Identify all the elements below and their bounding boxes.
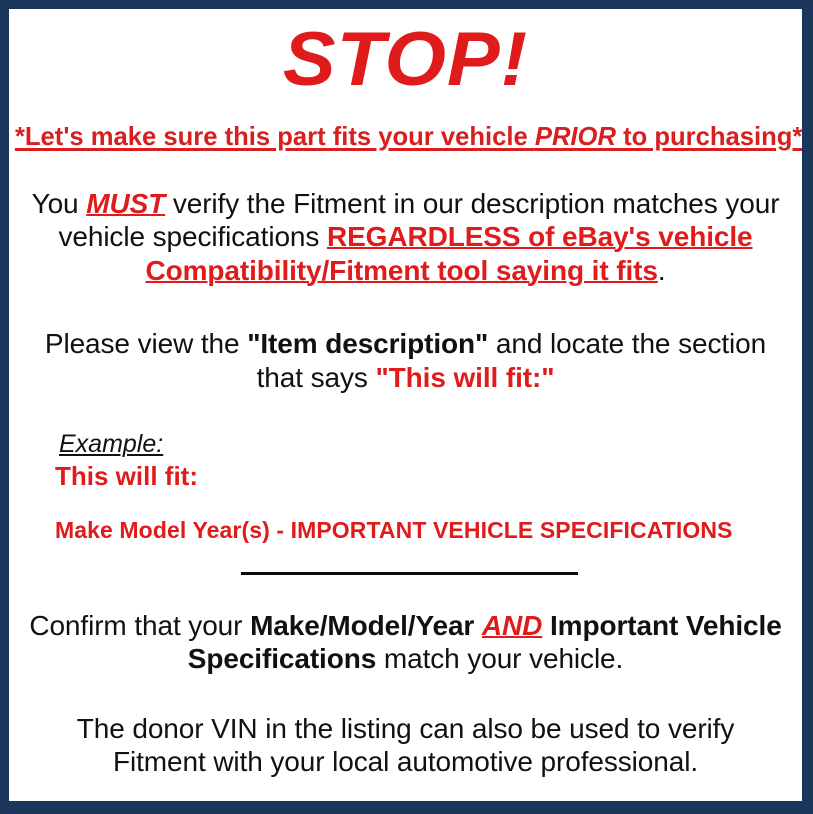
view-emphasis-item-description: "Item description" (247, 328, 488, 359)
divider-wrapper (9, 544, 802, 575)
example-label-row: Example: (55, 430, 802, 459)
verify-text-3: . (658, 255, 666, 286)
notice-inner-panel: STOP! *Let's make sure this part fits yo… (9, 9, 802, 801)
view-emphasis-this-will-fit: "This will fit:" (375, 362, 554, 393)
thank-you-message: Thank you for confirming Fitment! (9, 779, 802, 801)
confirm-space-2 (542, 610, 550, 641)
confirm-emphasis-make-model-year: Make/Model/Year (250, 610, 474, 641)
paragraph-view-item-description: Please view the "Item description" and l… (9, 287, 802, 394)
paragraph-confirm-match: Confirm that your Make/Model/Year AND Im… (9, 575, 802, 676)
example-label: Example: (59, 430, 163, 459)
confirm-text-2: match your vehicle. (376, 643, 623, 674)
confirm-text-1: Confirm that your (29, 610, 250, 641)
fitment-notice-card: STOP! *Let's make sure this part fits yo… (0, 0, 813, 814)
paragraph-donor-vin: The donor VIN in the listing can also be… (9, 676, 802, 779)
subtitle-suffix: to purchasing* (616, 121, 802, 151)
horizontal-divider (241, 572, 578, 575)
example-vehicle-spec-line: Make Model Year(s) - IMPORTANT VEHICLE S… (55, 517, 802, 544)
paragraph-verify-fitment: You MUST verify the Fitment in our descr… (9, 151, 802, 288)
verify-text-1: You (32, 188, 87, 219)
example-this-will-fit-label: This will fit: (55, 461, 802, 492)
confirm-space-1 (474, 610, 482, 641)
page-title: STOP! (9, 9, 802, 98)
view-text-1: Please view the (45, 328, 247, 359)
example-block: Example: This will fit: Make Model Year(… (9, 395, 802, 544)
subtitle-line: *Let's make sure this part fits your veh… (15, 98, 796, 151)
confirm-emphasis-and: AND (482, 610, 542, 641)
verify-emphasis-must: MUST (86, 188, 165, 219)
subtitle-prefix: *Let's make sure this part fits your veh… (15, 121, 535, 151)
subtitle-emphasis-prior: PRIOR (535, 121, 616, 151)
